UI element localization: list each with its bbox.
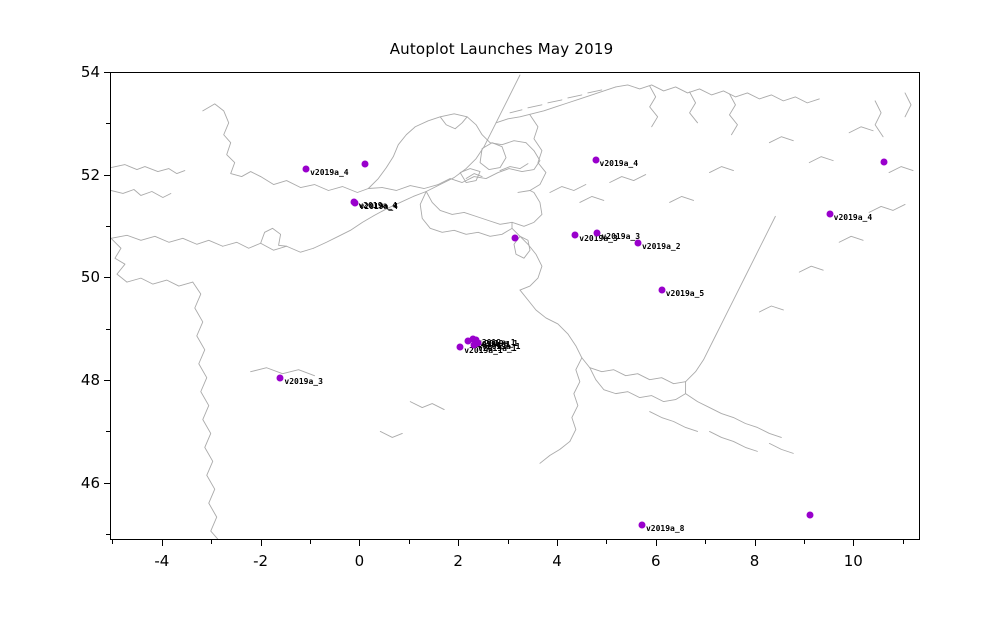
y-tick-minor [106,431,110,432]
scatter-marker [826,211,833,218]
scatter-marker [572,231,579,238]
x-tick-major [359,540,360,546]
scatter-point-label: v2019a_3 [601,233,640,241]
scatter-point-label: v2019a_1 [478,345,517,353]
scatter-marker [511,235,518,242]
y-tick-label: 50 [48,268,100,286]
scatter-marker [303,166,310,173]
figure-canvas: Autoplot Launches May 2019 [0,0,1003,633]
x-tick-minor [606,540,607,544]
scatter-marker [594,230,601,237]
x-tick-label: -2 [253,552,268,570]
x-tick-major [755,540,756,546]
page-title: Autoplot Launches May 2019 [0,40,1003,58]
x-tick-minor [508,540,509,544]
x-tick-minor [705,540,706,544]
x-tick-major [853,540,854,546]
plot-area: v2019a_4v2019a_4v2019a_4v2019a_4v2019a_4… [110,72,920,540]
x-tick-label: 6 [651,552,661,570]
scatter-point-label: v2019a_5 [666,290,705,298]
scatter-marker [352,199,359,206]
scatter-point-label: v2019a_4 [600,160,639,168]
y-tick-major [104,277,110,278]
y-tick-label: 52 [48,166,100,184]
scatter-point-label: v2019a_3 [284,378,323,386]
y-tick-major [104,483,110,484]
x-tick-major [557,540,558,546]
scatter-point-label: v2019a_8 [646,525,685,533]
y-tick-major [104,72,110,73]
y-tick-label: 46 [48,474,100,492]
x-tick-label: 0 [355,552,365,570]
x-tick-label: -4 [154,552,169,570]
scatter-marker [806,512,813,519]
y-tick-label: 54 [48,63,100,81]
scatter-marker [880,158,887,165]
scatter-marker [638,521,645,528]
scatter-marker [634,240,641,247]
x-tick-label: 10 [844,552,863,570]
scatter-point-label: v2019a_4 [310,169,349,177]
scatter-marker [658,286,665,293]
x-tick-minor [409,540,410,544]
scatter-point-label: v2019a_2 [642,243,681,251]
scatter-marker [592,156,599,163]
y-tick-minor [106,534,110,535]
scatter-point-label: v2019a_4 [359,203,398,211]
x-tick-label: 4 [552,552,562,570]
scatter-marker [471,341,478,348]
x-tick-minor [804,540,805,544]
x-tick-major [261,540,262,546]
x-tick-major [458,540,459,546]
x-tick-major [656,540,657,546]
x-tick-label: 8 [750,552,760,570]
y-tick-major [104,380,110,381]
y-tick-label: 48 [48,371,100,389]
x-tick-major [162,540,163,546]
x-tick-label: 2 [453,552,463,570]
x-tick-minor [112,540,113,544]
x-tick-minor [310,540,311,544]
x-tick-minor [903,540,904,544]
scatter-marker [362,161,369,168]
y-tick-minor [106,123,110,124]
y-tick-minor [106,226,110,227]
scatter-marker [457,344,464,351]
y-tick-minor [106,329,110,330]
scatter-marker [277,375,284,382]
x-tick-minor [211,540,212,544]
y-tick-major [104,175,110,176]
scatter-points-layer: v2019a_4v2019a_4v2019a_4v2019a_4v2019a_4… [111,73,919,539]
scatter-point-label: v2019a_4 [834,214,873,222]
